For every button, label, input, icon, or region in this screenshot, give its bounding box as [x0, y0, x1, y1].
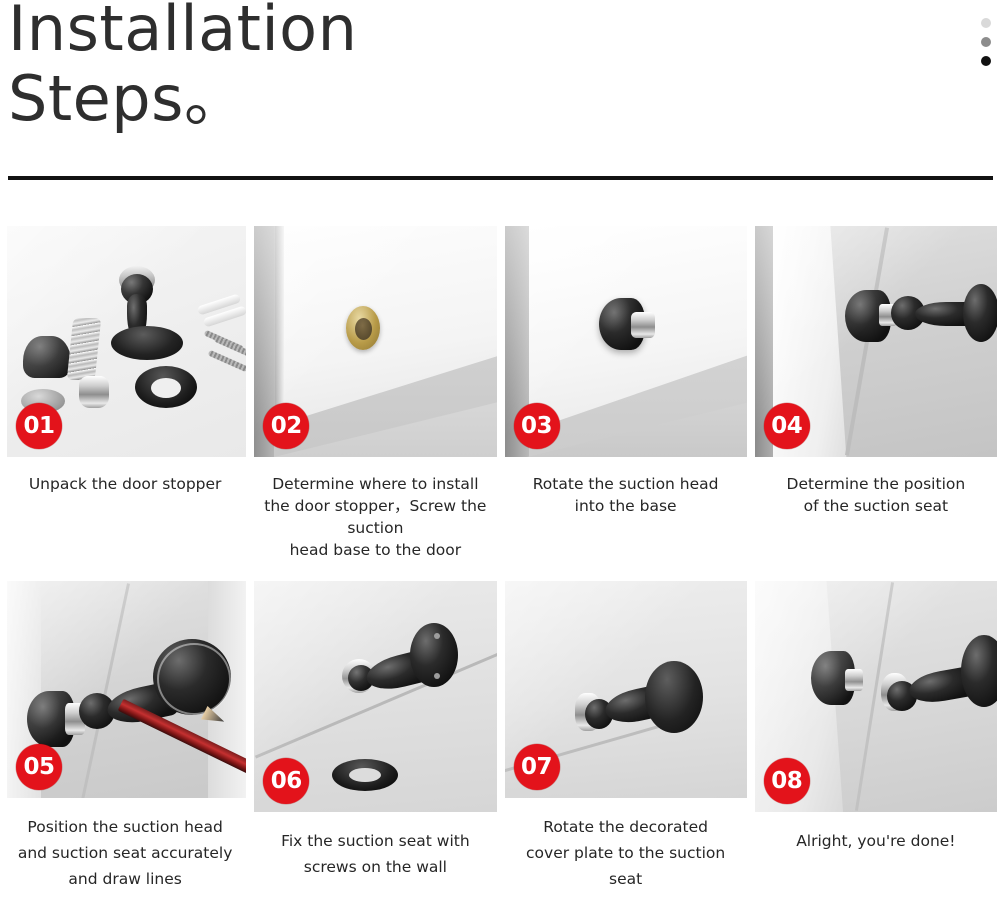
step-badge-08: 08	[764, 758, 810, 804]
step-badge-01: 01	[16, 403, 62, 449]
page-title: Installation Steps。	[8, 0, 708, 134]
step-photo-08: 08	[755, 581, 997, 812]
step-card-08: 08 Alright, you're done!	[751, 577, 1001, 892]
step-card-06: 06 Fix the suction seat with screws on t…	[250, 577, 500, 892]
step-caption-01: Unpack the door stopper	[0, 473, 250, 495]
step-caption-06: Fix the suction seat with screws on the …	[250, 828, 500, 880]
step-caption-03: Rotate the suction head into the base	[501, 473, 751, 517]
rubber-cone-part	[23, 336, 71, 378]
page-dot-2[interactable]	[981, 37, 991, 47]
step-photo-01: 01	[7, 226, 246, 457]
suction-seat-plate	[963, 284, 997, 342]
step-caption-07: Rotate the decorated cover plate to the …	[501, 814, 751, 892]
step-card-02: 02 Determine where to install the door s…	[250, 222, 500, 577]
step-photo-02: 02	[254, 226, 496, 457]
spring-part	[67, 318, 102, 380]
installation-steps-grid: 01 Unpack the door stopper 02 Determi	[0, 222, 1001, 892]
step-badge-02: 02	[263, 403, 309, 449]
step-badge-06: 06	[263, 758, 309, 804]
step-card-04: 04 Determine the position of the suction…	[751, 222, 1001, 577]
step-caption-04: Determine the position of the suction se…	[751, 473, 1001, 517]
step-badge-05: 05	[16, 744, 62, 790]
page-dot-1[interactable]	[981, 18, 991, 28]
steps-row-bottom: 05 Position the suction head and suction…	[0, 577, 1001, 892]
step-card-03: 03 Rotate the suction head into the base	[501, 222, 751, 577]
step-photo-03: 03	[505, 226, 747, 457]
step-badge-03: 03	[514, 403, 560, 449]
step-photo-06: 06	[254, 581, 496, 812]
door-panel	[274, 226, 496, 426]
decorative-cover-ring-hole	[151, 378, 181, 398]
step-caption-08: Alright, you're done!	[751, 828, 1001, 854]
step-photo-04: 04	[755, 226, 997, 457]
step-badge-04: 04	[764, 403, 810, 449]
decorative-cover-plate-mounted	[645, 661, 703, 733]
title-divider	[8, 176, 993, 180]
decorative-cover-ring-hole	[349, 768, 381, 782]
page-indicator-dots[interactable]	[977, 18, 995, 66]
door-edge-shadow	[274, 226, 284, 426]
suction-head-base-plate	[111, 326, 183, 360]
chrome-collar	[845, 669, 863, 691]
step-photo-05: 05	[7, 581, 246, 798]
page-header: Installation Steps。	[0, 0, 1001, 182]
step-caption-02: Determine where to install the door stop…	[250, 473, 500, 561]
step-card-07: 07 Rotate the decorated cover plate to t…	[501, 577, 751, 892]
chrome-nut-part	[79, 376, 109, 408]
seat-plate-highlight	[157, 643, 231, 715]
step-card-01: 01 Unpack the door stopper	[0, 222, 250, 577]
page-dot-3[interactable]	[981, 56, 991, 66]
wall-floor-seam	[255, 642, 496, 758]
step-badge-07: 07	[514, 744, 560, 790]
chrome-collar	[631, 312, 655, 338]
step-photo-07: 07	[505, 581, 747, 798]
step-caption-05: Position the suction head and suction se…	[0, 814, 250, 892]
tile-seam	[79, 583, 130, 798]
step-card-05: 05 Position the suction head and suction…	[0, 577, 250, 892]
steps-row-top: 01 Unpack the door stopper 02 Determi	[0, 222, 1001, 577]
